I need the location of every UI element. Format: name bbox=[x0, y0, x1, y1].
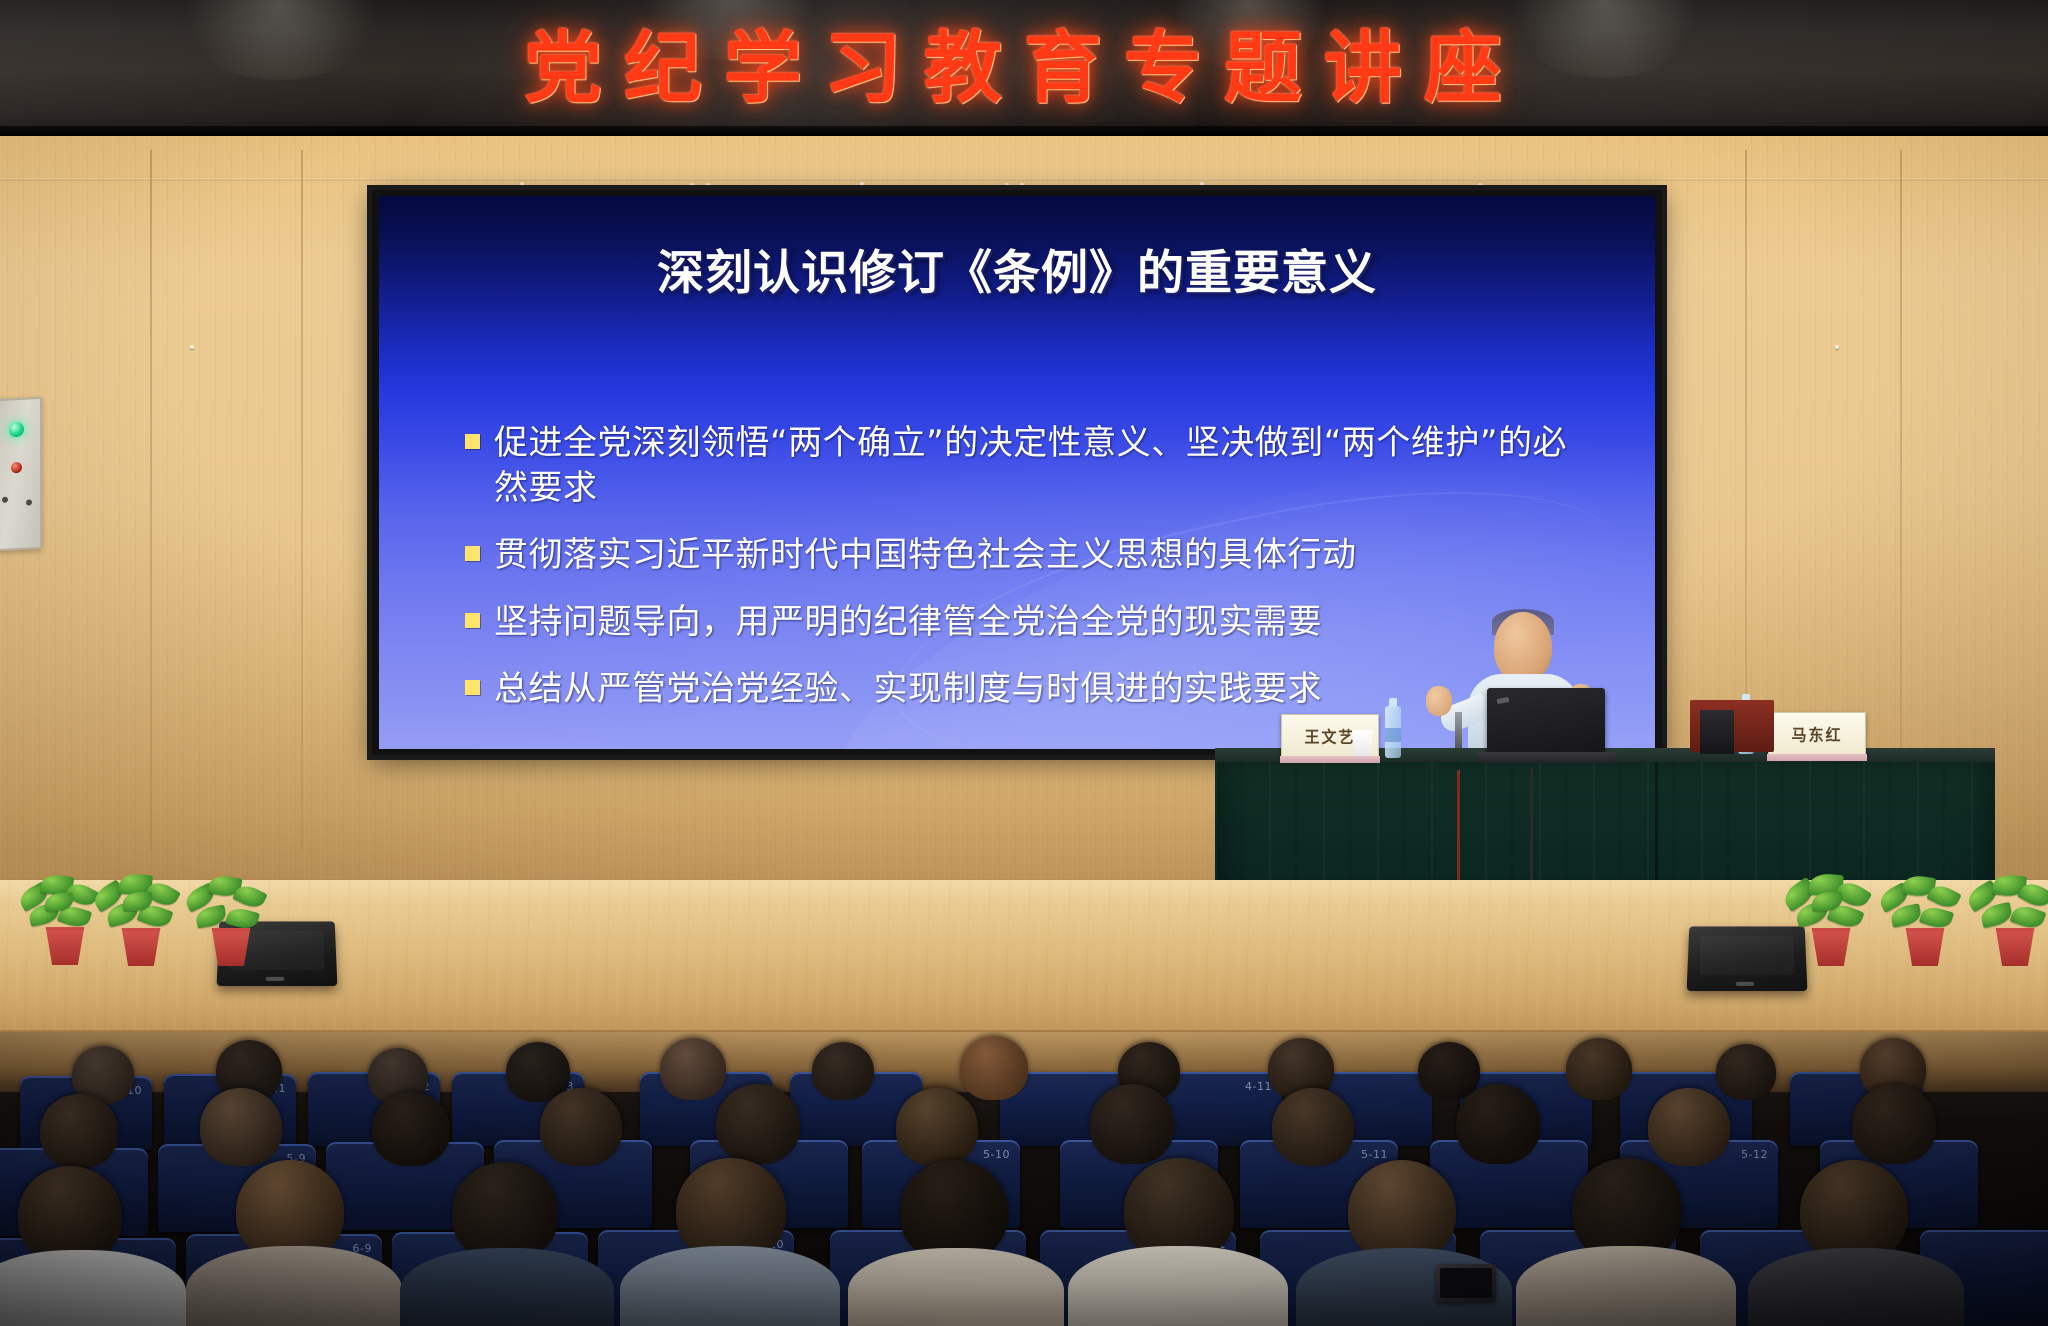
water-bottle bbox=[1385, 706, 1401, 758]
audience-member-shoulders bbox=[620, 1246, 840, 1326]
wall-fixture bbox=[1005, 183, 1009, 187]
audience-member-shoulders bbox=[400, 1248, 614, 1326]
wall-fixture bbox=[860, 182, 864, 186]
audience-member-head bbox=[200, 1088, 282, 1166]
bullet-square-icon bbox=[465, 434, 480, 449]
slide-bullet-text: 总结从严管党治党经验、实现制度与时俱进的实践要求 bbox=[494, 667, 1322, 712]
banner-title-text: 党纪学习教育专题讲座 bbox=[0, 6, 2048, 118]
bullet-square-icon bbox=[465, 613, 480, 628]
panel-screw bbox=[26, 499, 32, 505]
audience-member-head bbox=[1566, 1038, 1632, 1100]
audience-member-shoulders bbox=[1748, 1248, 1964, 1326]
potted-plant bbox=[1960, 850, 2048, 966]
audience-member-head bbox=[1716, 1044, 1776, 1100]
panel-screw bbox=[2, 497, 8, 503]
wall-fixture bbox=[1478, 183, 1482, 187]
wall-fixture bbox=[190, 345, 194, 349]
emergency-button[interactable] bbox=[11, 462, 22, 474]
audience-phone[interactable] bbox=[1436, 1264, 1496, 1302]
nameplate-right: 马东红 bbox=[1768, 712, 1866, 756]
nameplate-left-text: 王文艺 bbox=[1304, 725, 1355, 747]
slide-bullet-item: 坚持问题导向，用严明的纪律管全党治全党的现实需要 bbox=[465, 600, 1599, 645]
wall-control-panel[interactable] bbox=[0, 397, 42, 551]
audience-member-head bbox=[660, 1038, 726, 1100]
audience-member-shoulders bbox=[848, 1248, 1064, 1326]
plant-foliage bbox=[1965, 874, 2048, 936]
slide-bullet-text: 贯彻落实习近平新时代中国特色社会主义思想的具体行动 bbox=[494, 533, 1357, 578]
monitor-led-strip bbox=[1736, 982, 1754, 986]
slide-bullet-item: 促进全党深刻领悟“两个确立”的决定性意义、坚决做到“两个维护”的必然要求 bbox=[465, 421, 1599, 511]
wall-fixture bbox=[1200, 182, 1204, 186]
audience-member-head bbox=[1090, 1084, 1174, 1164]
audience-member-head bbox=[40, 1094, 118, 1168]
plant-foliage bbox=[1781, 874, 1881, 936]
power-indicator-led bbox=[9, 422, 24, 438]
monitor-led-strip bbox=[266, 977, 284, 981]
plant-pot bbox=[118, 928, 164, 966]
plant-pot bbox=[1808, 928, 1854, 966]
presenter-left-hand bbox=[1426, 686, 1452, 716]
slide-bullet-text: 促进全党深刻领悟“两个确立”的决定性意义、坚决做到“两个维护”的必然要求 bbox=[494, 421, 1599, 511]
bullet-square-icon bbox=[465, 680, 480, 695]
wall-fixture bbox=[1020, 183, 1024, 187]
nameplate-right-text: 马东红 bbox=[1791, 723, 1842, 745]
wall-fixture bbox=[690, 183, 694, 187]
equipment-box bbox=[1700, 710, 1734, 754]
slide-bullet-item: 贯彻落实习近平新时代中国特色社会主义思想的具体行动 bbox=[465, 533, 1599, 578]
laptop-base bbox=[1478, 752, 1616, 763]
audience-member-head bbox=[900, 1160, 1008, 1262]
audience-member-head bbox=[812, 1042, 874, 1100]
audience-member-shoulders bbox=[1516, 1246, 1736, 1326]
laptop-logo-icon bbox=[1497, 697, 1510, 704]
audience-member-head bbox=[1852, 1084, 1936, 1164]
seat-number: 5-11 bbox=[1361, 1148, 1388, 1161]
audience-member-head bbox=[1418, 1042, 1480, 1100]
wall-fixture bbox=[706, 183, 710, 187]
bullet-square-icon bbox=[465, 546, 480, 561]
presenter-laptop[interactable] bbox=[1487, 688, 1605, 756]
paper-cup bbox=[1352, 730, 1373, 756]
wall-fixture bbox=[520, 182, 524, 186]
audience-member-head bbox=[716, 1084, 800, 1164]
potted-plant bbox=[176, 852, 286, 966]
plant-foliage bbox=[181, 874, 281, 936]
seat-number: 5-12 bbox=[1741, 1148, 1768, 1161]
plant-pot bbox=[42, 927, 88, 965]
seat-number: 4-11 bbox=[1245, 1080, 1272, 1093]
audience-member-head bbox=[1800, 1160, 1908, 1262]
microphone-stand bbox=[1455, 712, 1462, 748]
slide-bullet-text: 坚持问题导向，用严明的纪律管全党治全党的现实需要 bbox=[494, 600, 1322, 645]
auditorium-photo: 党纪学习教育专题讲座 深刻认识修订《条例》的重要意义 促进全党深刻领悟“两个确立… bbox=[0, 0, 2048, 1326]
audience-member-head bbox=[540, 1088, 622, 1166]
audience-member-shoulders bbox=[1068, 1246, 1288, 1326]
plant-pot bbox=[1902, 928, 1948, 966]
audience-member-head bbox=[896, 1088, 978, 1166]
audience-member-head bbox=[1348, 1160, 1456, 1262]
audience-member-head bbox=[1648, 1088, 1730, 1166]
slide-title: 深刻认识修订《条例》的重要意义 bbox=[379, 234, 1655, 303]
slide-bullet-list: 促进全党深刻领悟“两个确立”的决定性意义、坚决做到“两个维护”的必然要求 贯彻落… bbox=[465, 421, 1599, 733]
plant-pot bbox=[1992, 928, 2038, 966]
plant-pot bbox=[208, 928, 254, 966]
wall-fixture bbox=[1835, 345, 1839, 349]
audience-seating-area: 4-10 4-11 4-12 4-13 4-11 5-9 5-10 5-11 5… bbox=[0, 1032, 2048, 1326]
audience-member-head bbox=[372, 1092, 450, 1166]
presenter-head bbox=[1494, 612, 1552, 682]
audience-member-head bbox=[1272, 1088, 1354, 1166]
audience-member-head bbox=[452, 1162, 558, 1262]
audience-member-shoulders bbox=[186, 1246, 402, 1326]
audience-member-head bbox=[960, 1036, 1028, 1100]
seat-number: 5-10 bbox=[983, 1148, 1010, 1161]
audience-member-head bbox=[1456, 1084, 1540, 1164]
event-banner: 党纪学习教育专题讲座 bbox=[0, 0, 2048, 136]
